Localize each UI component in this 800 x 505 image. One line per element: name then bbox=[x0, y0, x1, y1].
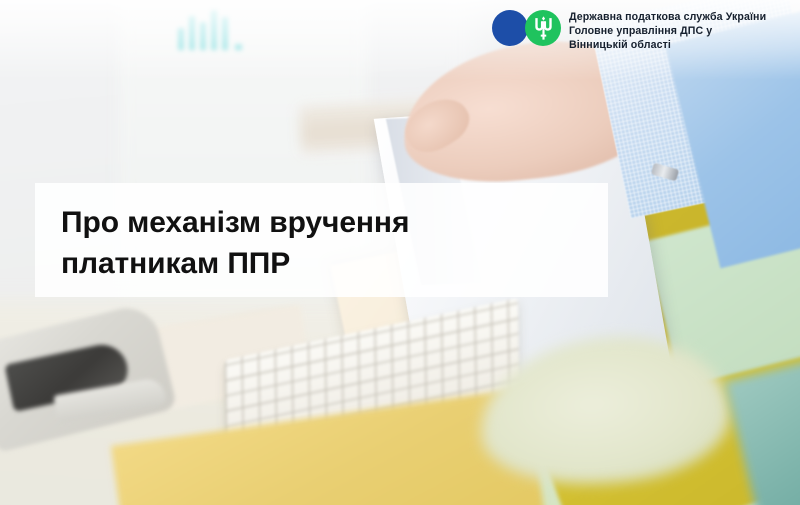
page-title: Про механізм вручення платникам ППР bbox=[61, 202, 409, 284]
title-banner: Про механізм вручення платникам ППР bbox=[35, 183, 608, 297]
green-circle-icon bbox=[525, 10, 561, 46]
agency-logo-text: Державна податкова служба України Головн… bbox=[569, 9, 766, 53]
logo-marks bbox=[492, 10, 561, 46]
logo-text-line-2: Головне управління ДПС у bbox=[569, 24, 766, 38]
ukrainian-trident-icon bbox=[534, 16, 553, 40]
agency-logo: Державна податкова служба України Головн… bbox=[492, 9, 766, 53]
blue-circle-icon bbox=[492, 10, 528, 46]
logo-text-line-1: Державна податкова служба України bbox=[569, 10, 766, 24]
logo-text-line-3: Вінницькій області bbox=[569, 38, 766, 52]
poster-canvas: Державна податкова служба України Головн… bbox=[0, 0, 800, 505]
